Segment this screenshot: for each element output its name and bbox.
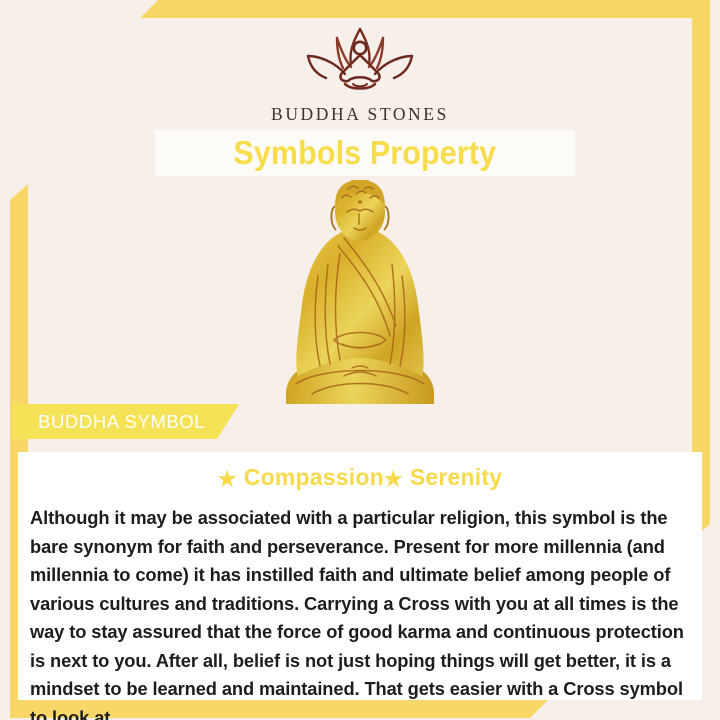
virtue-first: Compassion	[244, 464, 384, 490]
description-paragraph: Although it may be associated with a par…	[30, 504, 690, 720]
description-card: ★Compassion★Serenity Although it may be …	[18, 452, 702, 700]
page-title: Symbols Property	[234, 134, 497, 172]
poster-canvas: BUDDHA STONES Symbols Property	[0, 0, 720, 720]
virtue-second: Serenity	[410, 464, 502, 490]
symbol-category-label: BUDDHA SYMBOL	[38, 411, 205, 433]
symbol-category-tag: BUDDHA SYMBOL	[12, 404, 239, 439]
brand-logo: BUDDHA STONES	[0, 22, 720, 125]
title-banner: Symbols Property	[155, 130, 575, 176]
virtue-list: ★Compassion★Serenity	[18, 464, 702, 492]
lotus-meditation-icon	[285, 22, 435, 100]
frame-band-top	[140, 0, 692, 18]
star-icon: ★	[384, 468, 403, 491]
hero-image-wrap	[0, 180, 720, 417]
brand-name: BUDDHA STONES	[0, 104, 720, 125]
star-icon: ★	[218, 468, 237, 491]
golden-buddha-statue-icon	[272, 180, 448, 412]
